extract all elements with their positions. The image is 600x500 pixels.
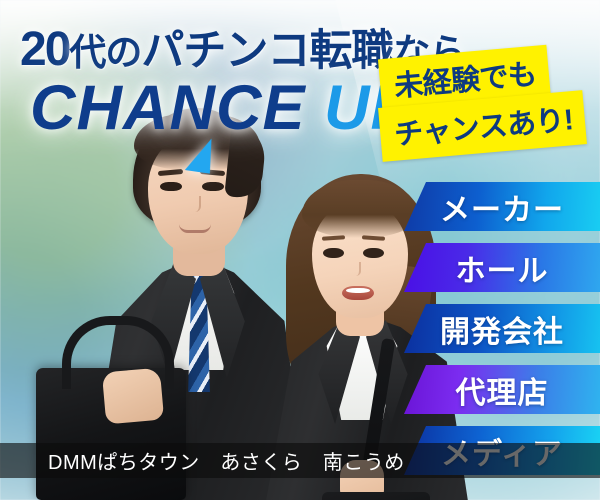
woman-eye-left xyxy=(323,248,344,258)
headline-main: パチンコ転職 xyxy=(141,27,393,75)
woman-eye-right xyxy=(363,248,384,258)
category-button-developer[interactable]: 開発会社 xyxy=(404,304,600,353)
woman-hair-fringe xyxy=(302,180,418,238)
category-button-agency[interactable]: 代理店 xyxy=(404,365,600,414)
man-nose xyxy=(193,196,201,212)
credit-strip: DMMぱちタウン あさくら 南こうめ xyxy=(0,443,600,478)
recruitment-banner: 20代のパチンコ転職なら CHANCE UP 未経験でも チャンスあり! メーカ… xyxy=(0,0,600,500)
man-eye-right xyxy=(202,182,224,191)
man-hand xyxy=(102,368,164,425)
man-mouth xyxy=(179,224,211,233)
category-button-hall[interactable]: ホール xyxy=(404,243,600,292)
headline-suffix: 代の xyxy=(69,32,141,73)
logo-word-chance: CHANCE xyxy=(30,73,306,143)
credit-text: DMMぱちタウン あさくら 南こうめ xyxy=(0,446,405,475)
woman-mouth xyxy=(342,286,374,300)
category-button-maker[interactable]: メーカー xyxy=(404,182,600,231)
experience-badge: 未経験でも チャンスあり! xyxy=(380,52,598,152)
man-eye-left xyxy=(160,182,182,191)
woman-handbag xyxy=(322,492,430,500)
chance-up-logo: CHANCE UP xyxy=(30,72,414,144)
woman-nose xyxy=(354,262,361,276)
headline-number: 20 xyxy=(20,23,69,76)
